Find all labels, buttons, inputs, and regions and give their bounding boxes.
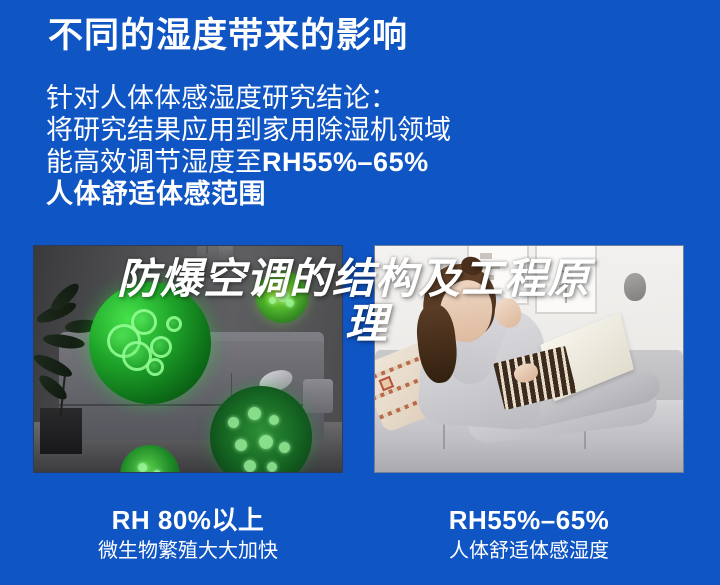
virus-spike (235, 439, 247, 451)
body-copy: 针对人体体感湿度研究结论： 将研究结果应用到家用除湿机领域 能高效调节湿度至RH… (46, 82, 451, 210)
humidity-infographic-poster: 不同的湿度带来的影响 针对人体体感湿度研究结论： 将研究结果应用到家用除湿机领域… (0, 0, 720, 585)
caption-left-title: RH 80%以上 (33, 505, 343, 535)
body-line-3-prefix: 能高效调节湿度至 (46, 147, 262, 177)
bacteria-cell (146, 358, 164, 376)
bacteria-spore (269, 297, 276, 304)
virus-sphere-large (210, 386, 312, 473)
caption-left-subtitle: 微生物繁殖大大加快 (33, 538, 343, 564)
virus-spike (269, 415, 279, 425)
photo-comfort-humidity (374, 245, 684, 473)
virus-spike (244, 460, 256, 472)
bacteria-cell (150, 336, 172, 358)
virus-spike (248, 407, 261, 420)
bacteria-spore (286, 299, 294, 307)
caption-right-subtitle: 人体舒适体感湿度 (374, 538, 684, 564)
body-line-2: 将研究结果应用到家用除湿机领域 (46, 114, 451, 146)
bacteria-cell (131, 309, 157, 335)
body-line-4: 人体舒适体感范围 (46, 178, 451, 210)
side-table (303, 379, 333, 413)
virus-spike (228, 417, 239, 428)
bacteria-spore (280, 280, 286, 286)
bacteria-cluster-large (89, 282, 211, 404)
ceiling-lamp-icon (197, 245, 221, 278)
body-line-3: 能高效调节湿度至RH55%–65% (46, 146, 451, 178)
ceiling-lamp-secondary-icon (219, 245, 233, 270)
virus-spike (267, 462, 277, 472)
caption-comfort-humidity: RH55%–65% 人体舒适体感湿度 (374, 505, 684, 564)
bacteria-cluster-small (256, 271, 308, 323)
photo-high-humidity (33, 245, 343, 473)
wall-speaker-icon (624, 273, 646, 301)
bacteria-cell (166, 316, 182, 332)
virus-spike (279, 442, 290, 453)
virus-spike (259, 435, 273, 449)
caption-high-humidity: RH 80%以上 微生物繁殖大大加快 (33, 505, 343, 564)
page-title: 不同的湿度带来的影响 (48, 16, 408, 56)
body-line-1: 针对人体体感湿度研究结论： (46, 82, 451, 114)
virus-spike (153, 470, 161, 473)
caption-right-title: RH55%–65% (374, 505, 684, 535)
body-line-3-highlight: RH55%–65% (262, 147, 429, 177)
wall-art-right (535, 245, 597, 314)
virus-spike (138, 463, 147, 472)
